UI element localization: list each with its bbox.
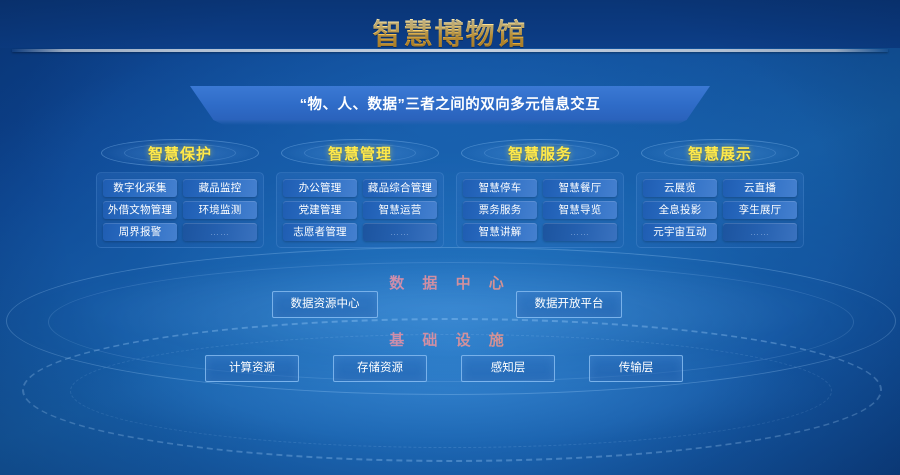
pillar-item[interactable]: 外借文物管理 (103, 201, 177, 219)
pillar-title: 智慧服务 (508, 143, 572, 164)
pillar-title: 智慧管理 (328, 143, 392, 164)
infrastructure-button-compute[interactable]: 计算资源 (205, 355, 299, 382)
pillar-header-smart-management: 智慧管理 (276, 140, 444, 166)
pillar-item-more[interactable]: …… (543, 223, 617, 241)
interaction-banner-shadow (190, 120, 710, 125)
pillar-header-smart-protection: 智慧保护 (96, 140, 264, 166)
pillar-item[interactable]: 票务服务 (463, 201, 537, 219)
infrastructure-button-transport[interactable]: 传输层 (589, 355, 683, 382)
interaction-banner-label: “物、人、数据”三者之间的双向多元信息交互 (190, 86, 710, 120)
infrastructure-label: 基 础 设 施 (0, 329, 900, 350)
smart-museum-architecture-diagram: 智慧博物馆 “物、人、数据”三者之间的双向多元信息交互 智慧保护 数字化采集 藏… (0, 0, 900, 475)
pillar-items-smart-management: 办公管理 藏品综合管理 党建管理 智慧运营 志愿者管理 …… (276, 172, 444, 248)
pillar-header-smart-service: 智慧服务 (456, 140, 624, 166)
pillar-item[interactable]: 藏品综合管理 (363, 179, 437, 197)
pillar-items-smart-protection: 数字化采集 藏品监控 外借文物管理 环境监测 周界报警 …… (96, 172, 264, 248)
pillar-item[interactable]: 全息投影 (643, 201, 717, 219)
pillar-title: 智慧保护 (148, 143, 212, 164)
pillar-smart-management: 智慧管理 办公管理 藏品综合管理 党建管理 智慧运营 志愿者管理 …… (276, 140, 444, 250)
data-center-label: 数 据 中 心 (0, 272, 900, 293)
pillar-item[interactable]: 云直播 (723, 179, 797, 197)
pillar-item[interactable]: 环境监测 (183, 201, 257, 219)
data-center-button-resource[interactable]: 数据资源中心 (272, 291, 378, 318)
data-center-button-open-platform[interactable]: 数据开放平台 (516, 291, 622, 318)
pillar-items-smart-exhibition: 云展览 云直播 全息投影 孪生展厅 元宇宙互动 …… (636, 172, 804, 248)
pillar-item[interactable]: 数字化采集 (103, 179, 177, 197)
pillar-item-more[interactable]: …… (183, 223, 257, 241)
pillar-smart-exhibition: 智慧展示 云展览 云直播 全息投影 孪生展厅 元宇宙互动 …… (636, 140, 804, 250)
pillar-title: 智慧展示 (688, 143, 752, 164)
pillar-item[interactable]: 元宇宙互动 (643, 223, 717, 241)
pillar-item[interactable]: 办公管理 (283, 179, 357, 197)
pillar-item[interactable]: 智慧停车 (463, 179, 537, 197)
infrastructure-ring-inner-dashed (70, 334, 832, 448)
infrastructure-button-sensing[interactable]: 感知层 (461, 355, 555, 382)
header-divider (12, 49, 888, 52)
pillar-item[interactable]: 智慧导览 (543, 201, 617, 219)
pillar-item[interactable]: 党建管理 (283, 201, 357, 219)
data-center-ring-outer (6, 247, 896, 395)
pillar-group: 智慧保护 数字化采集 藏品监控 外借文物管理 环境监测 周界报警 …… 智慧管理… (96, 140, 804, 250)
infrastructure-button-storage[interactable]: 存储资源 (333, 355, 427, 382)
pillar-item-more[interactable]: …… (363, 223, 437, 241)
pillar-items-smart-service: 智慧停车 智慧餐厅 票务服务 智慧导览 智慧讲解 …… (456, 172, 624, 248)
pillar-smart-protection: 智慧保护 数字化采集 藏品监控 外借文物管理 环境监测 周界报警 …… (96, 140, 264, 250)
pillar-item[interactable]: 志愿者管理 (283, 223, 357, 241)
pillar-item[interactable]: 智慧运营 (363, 201, 437, 219)
pillar-item[interactable]: 云展览 (643, 179, 717, 197)
pillar-item-more[interactable]: …… (723, 223, 797, 241)
page-title: 智慧博物馆 (0, 11, 900, 53)
pillar-item[interactable]: 周界报警 (103, 223, 177, 241)
pillar-smart-service: 智慧服务 智慧停车 智慧餐厅 票务服务 智慧导览 智慧讲解 …… (456, 140, 624, 250)
pillar-item[interactable]: 智慧讲解 (463, 223, 537, 241)
data-center-glow (0, 248, 900, 368)
pillar-header-smart-exhibition: 智慧展示 (636, 140, 804, 166)
pillar-item[interactable]: 孪生展厅 (723, 201, 797, 219)
pillar-item[interactable]: 智慧餐厅 (543, 179, 617, 197)
pillar-item[interactable]: 藏品监控 (183, 179, 257, 197)
page-header: 智慧博物馆 (0, 0, 900, 48)
